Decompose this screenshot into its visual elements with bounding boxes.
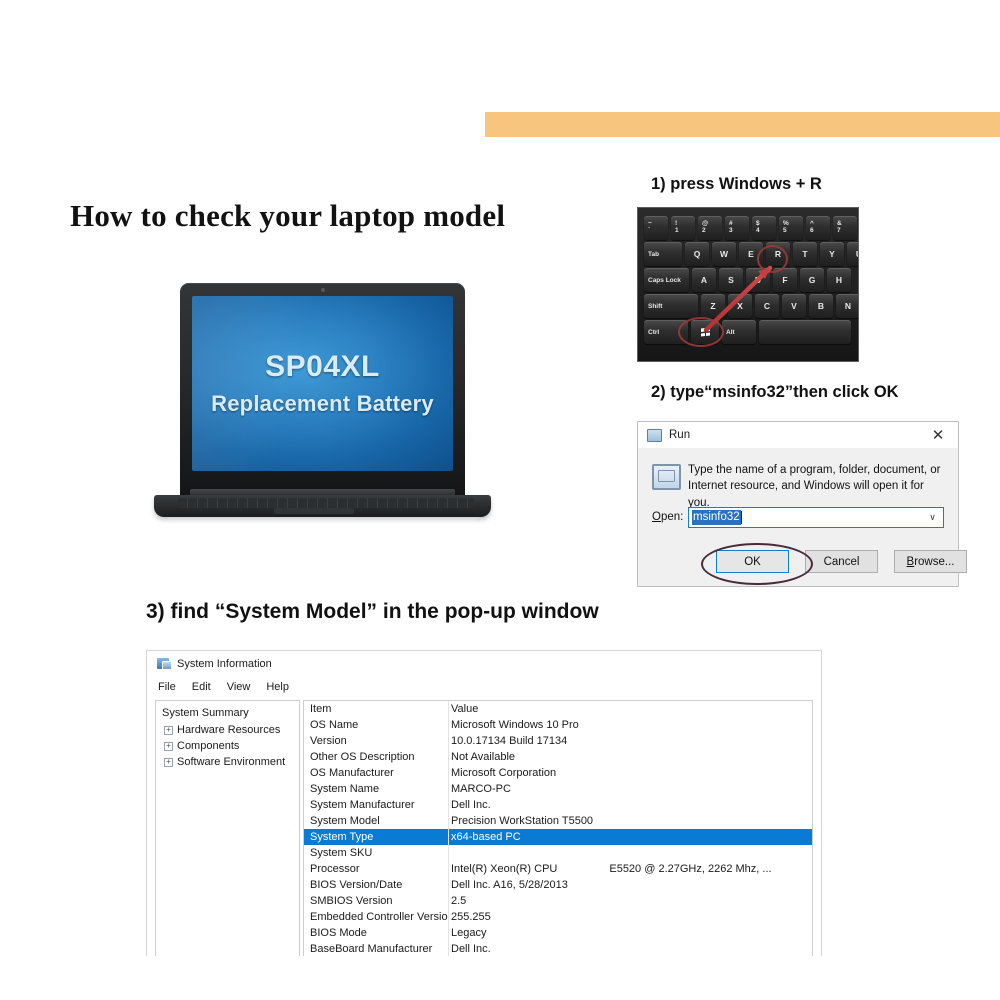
laptop-keyboard-deck — [178, 498, 474, 508]
step-1-caption: 1) press Windows + R — [651, 175, 822, 194]
table-row[interactable]: ProcessorIntel(R) Xeon(R) CPUE5520 @ 2.2… — [304, 861, 812, 877]
step-2-caption: 2) type“msinfo32”then click OK — [651, 383, 899, 402]
table-row[interactable]: BIOS Version/DateDell Inc. A16, 5/28/201… — [304, 877, 812, 893]
tree-item-software-environment[interactable]: +Software Environment — [160, 754, 299, 770]
product-model-text: SP04XL — [265, 350, 380, 383]
menu-item-edit[interactable]: Edit — [192, 681, 211, 693]
expand-icon[interactable]: + — [164, 758, 173, 767]
key-bottom-legend: 6 — [810, 228, 814, 235]
cell-value: Not Available — [449, 751, 812, 763]
system-information-icon — [157, 658, 169, 669]
expand-icon[interactable]: + — [164, 742, 173, 751]
key-w[interactable]: W — [712, 242, 736, 266]
cell-value: x64-based PC — [449, 831, 812, 843]
menu-item-file[interactable]: File — [158, 681, 176, 693]
key-bottom-legend: 2 — [702, 228, 706, 235]
cell-item: BaseBoard Manufacturer — [304, 943, 449, 955]
run-dialog-title: Run — [669, 429, 690, 441]
table-row-selected[interactable]: System Typex64-based PC — [304, 829, 812, 845]
key-s[interactable]: S — [719, 268, 743, 292]
expand-icon[interactable]: + — [164, 726, 173, 735]
cell-item: System Manufacturer — [304, 799, 449, 811]
laptop-touchpad — [274, 508, 354, 514]
screen-glare — [192, 296, 396, 471]
key-a[interactable]: A — [692, 268, 716, 292]
table-row[interactable]: OS NameMicrosoft Windows 10 Pro — [304, 717, 812, 733]
key-x[interactable]: X — [728, 294, 752, 318]
orange-accent-bar — [485, 112, 1000, 137]
cell-item: BIOS Version/Date — [304, 879, 449, 891]
cell-value: Dell Inc. — [449, 943, 812, 955]
run-dialog-button-row: OK Cancel Browse... — [638, 540, 958, 586]
key-bottom-legend: 4 — [756, 228, 760, 235]
key-dual-legend: @2 — [698, 221, 722, 235]
run-app-icon — [652, 464, 681, 490]
cell-item: Embedded Controller Version — [304, 911, 449, 923]
keyboard-row-3: Caps LockASDFGH — [644, 268, 851, 292]
run-dialog-titlebar[interactable]: Run ✕ — [638, 422, 958, 448]
key-space[interactable] — [759, 320, 851, 344]
infographic-page: How to check your laptop model SP04XL Re… — [0, 0, 1000, 1000]
cell-item: SMBIOS Version — [304, 895, 449, 907]
key-1[interactable]: !1 — [671, 216, 695, 240]
key-caps-lock[interactable]: Caps Lock — [644, 268, 689, 292]
cell-item: BIOS Mode — [304, 927, 449, 939]
menu-item-help[interactable]: Help — [266, 681, 289, 693]
laptop-screen: SP04XL Replacement Battery — [192, 296, 453, 471]
browse-rest: rowse... — [914, 556, 954, 568]
key-dual-legend: #3 — [725, 221, 749, 235]
key-6[interactable]: ^6 — [806, 216, 830, 240]
cell-value: Precision WorkStation T5500 — [449, 815, 812, 827]
open-combobox[interactable]: msinfo32 ∨ — [688, 507, 944, 528]
text-caret — [741, 511, 742, 524]
product-subtitle-text: Replacement Battery — [211, 391, 434, 417]
key-`[interactable]: ~` — [644, 216, 668, 240]
keyboard-row-1: ~`!1@2#3$4%5^6&7 — [644, 216, 857, 240]
chevron-down-icon[interactable]: ∨ — [927, 512, 938, 523]
cell-item: Other OS Description — [304, 751, 449, 763]
keyboard-key-rows: ~`!1@2#3$4%5^6&7TabQWERTYUCaps LockASDFG… — [644, 214, 858, 355]
key-bottom-legend: 7 — [837, 228, 841, 235]
laptop-product-image: SP04XL Replacement Battery — [150, 283, 495, 523]
tree-item-system-summary[interactable]: System Summary — [160, 706, 299, 722]
windows-logo-icon — [701, 327, 710, 336]
key-c[interactable]: C — [755, 294, 779, 318]
key-bottom-legend: 5 — [783, 228, 787, 235]
laptop-lid: SP04XL Replacement Battery — [180, 283, 465, 498]
run-window-icon — [647, 429, 662, 442]
cell-item: System Name — [304, 783, 449, 795]
tree-item-label: Components — [177, 740, 239, 752]
cell-item: OS Manufacturer — [304, 767, 449, 779]
page-title: How to check your laptop model — [70, 198, 630, 234]
cell-value: Intel(R) Xeon(R) CPUE5520 @ 2.27GHz, 226… — [449, 863, 812, 875]
key-b[interactable]: B — [809, 294, 833, 318]
sysinfo-window-title: System Information — [177, 658, 272, 670]
key-q[interactable]: Q — [685, 242, 709, 266]
key-h[interactable]: H — [827, 268, 851, 292]
cell-value: MARCO-PC — [449, 783, 812, 795]
system-information-window: System Information FileEditViewHelp Syst… — [146, 650, 822, 956]
key-dual-legend: ~` — [644, 221, 668, 235]
key-y[interactable]: Y — [820, 242, 844, 266]
table-row[interactable]: Embedded Controller Version255.255 — [304, 909, 812, 925]
open-field-label: Open: — [652, 511, 683, 523]
key-n[interactable]: N — [836, 294, 859, 318]
column-divider — [448, 701, 449, 956]
key-v[interactable]: V — [782, 294, 806, 318]
open-label-accesskey: O — [652, 511, 661, 523]
key-shift[interactable]: Shift — [644, 294, 698, 318]
close-icon[interactable]: ✕ — [918, 422, 958, 448]
open-input-value[interactable]: msinfo32 — [692, 510, 741, 526]
keyboard-row-4: ShiftZXCVBN — [644, 294, 859, 318]
key-dual-legend: $4 — [752, 221, 776, 235]
cell-item: System Model — [304, 815, 449, 827]
key-bottom-legend: 3 — [729, 228, 733, 235]
cell-value: Legacy — [449, 927, 812, 939]
run-dialog-description: Type the name of a program, folder, docu… — [688, 462, 942, 511]
cell-item: OS Name — [304, 719, 449, 731]
open-label-rest: pen: — [661, 511, 683, 523]
keyboard-row-5: CtrlAlt — [644, 320, 851, 344]
run-dialog: Run ✕ Type the name of a program, folder… — [637, 421, 959, 587]
cell-value: 10.0.17134 Build 17134 — [449, 735, 812, 747]
cell-value: Dell Inc. A16, 5/28/2013 — [449, 879, 812, 891]
sysinfo-details-table[interactable]: ItemValueOS NameMicrosoft Windows 10 Pro… — [303, 700, 813, 956]
key-bottom-legend: ` — [648, 228, 650, 235]
sysinfo-titlebar[interactable]: System Information — [147, 651, 821, 676]
key-dual-legend: !1 — [671, 221, 695, 235]
key-e[interactable]: E — [739, 242, 763, 266]
table-row[interactable]: System ModelPrecision WorkStation T5500 — [304, 813, 812, 829]
cell-value: Value — [449, 703, 812, 715]
table-row[interactable]: BIOS ModeLegacy — [304, 925, 812, 941]
browse-button[interactable]: Browse... — [894, 550, 967, 573]
key-u[interactable]: U — [847, 242, 859, 266]
key-g[interactable]: G — [800, 268, 824, 292]
tree-item-components[interactable]: +Components — [160, 738, 299, 754]
key-bottom-legend: 1 — [675, 228, 679, 235]
webcam-icon — [321, 288, 325, 292]
keyboard-row-2: TabQWERTYU — [644, 242, 859, 266]
tree-item-label: Software Environment — [177, 756, 285, 768]
cancel-button[interactable]: Cancel — [805, 550, 878, 573]
sysinfo-navigation-tree[interactable]: System Summary +Hardware Resources+Compo… — [155, 700, 300, 956]
cell-item: System SKU — [304, 847, 449, 859]
menu-item-view[interactable]: View — [227, 681, 251, 693]
cell-value: Microsoft Corporation — [449, 767, 812, 779]
table-row[interactable]: OS ManufacturerMicrosoft Corporation — [304, 765, 812, 781]
key-7[interactable]: &7 — [833, 216, 857, 240]
run-dialog-body: Type the name of a program, folder, docu… — [638, 448, 958, 540]
cell-value: 255.255 — [449, 911, 812, 923]
key-4[interactable]: $4 — [752, 216, 776, 240]
key-2[interactable]: @2 — [698, 216, 722, 240]
key-d[interactable]: D — [746, 268, 770, 292]
table-row[interactable]: System ManufacturerDell Inc. — [304, 797, 812, 813]
cell-item: Version — [304, 735, 449, 747]
key-alt[interactable]: Alt — [722, 320, 756, 344]
table-row[interactable]: SMBIOS Version2.5 — [304, 893, 812, 909]
cell-value: Dell Inc. — [449, 799, 812, 811]
key-ctrl[interactable]: Ctrl — [644, 320, 688, 344]
sysinfo-table-rows: ItemValueOS NameMicrosoft Windows 10 Pro… — [304, 701, 812, 956]
table-header-row[interactable]: ItemValue — [304, 701, 812, 717]
tree-item-label: Hardware Resources — [177, 724, 280, 736]
cell-item: System Type — [304, 831, 449, 843]
table-row[interactable]: Other OS DescriptionNot Available — [304, 749, 812, 765]
table-row[interactable]: BaseBoard ManufacturerDell Inc. — [304, 941, 812, 956]
table-row[interactable]: Version10.0.17134 Build 17134 — [304, 733, 812, 749]
cell-value-extra: E5520 @ 2.27GHz, 2262 Mhz, ... — [609, 863, 771, 875]
key-f[interactable]: F — [773, 268, 797, 292]
cell-value: Microsoft Windows 10 Pro — [449, 719, 812, 731]
ok-button-highlight-circle — [701, 543, 813, 585]
key-windows[interactable] — [691, 320, 719, 344]
tree-node-list: +Hardware Resources+Components+Software … — [160, 722, 299, 770]
key-dual-legend: %5 — [779, 221, 803, 235]
key-3[interactable]: #3 — [725, 216, 749, 240]
table-row[interactable]: System SKU — [304, 845, 812, 861]
laptop-base — [154, 495, 491, 517]
key-dual-legend: ^6 — [806, 221, 830, 235]
keyboard-illustration: ~`!1@2#3$4%5^6&7TabQWERTYUCaps LockASDFG… — [637, 207, 859, 362]
key-5[interactable]: %5 — [779, 216, 803, 240]
cell-value: 2.5 — [449, 895, 812, 907]
key-z[interactable]: Z — [701, 294, 725, 318]
sysinfo-menubar: FileEditViewHelp — [147, 676, 821, 698]
cell-item: Processor — [304, 863, 449, 875]
sysinfo-content: System Summary +Hardware Resources+Compo… — [155, 700, 813, 956]
step-3-caption: 3) find “System Model” in the pop-up win… — [146, 600, 599, 624]
laptop-front-edge — [168, 517, 477, 521]
tree-item-hardware-resources[interactable]: +Hardware Resources — [160, 722, 299, 738]
key-t[interactable]: T — [793, 242, 817, 266]
key-tab[interactable]: Tab — [644, 242, 682, 266]
browse-accesskey: B — [907, 556, 915, 568]
cell-item: Item — [304, 703, 449, 715]
key-dual-legend: &7 — [833, 221, 857, 235]
key-r[interactable]: R — [766, 242, 790, 266]
table-row[interactable]: System NameMARCO-PC — [304, 781, 812, 797]
